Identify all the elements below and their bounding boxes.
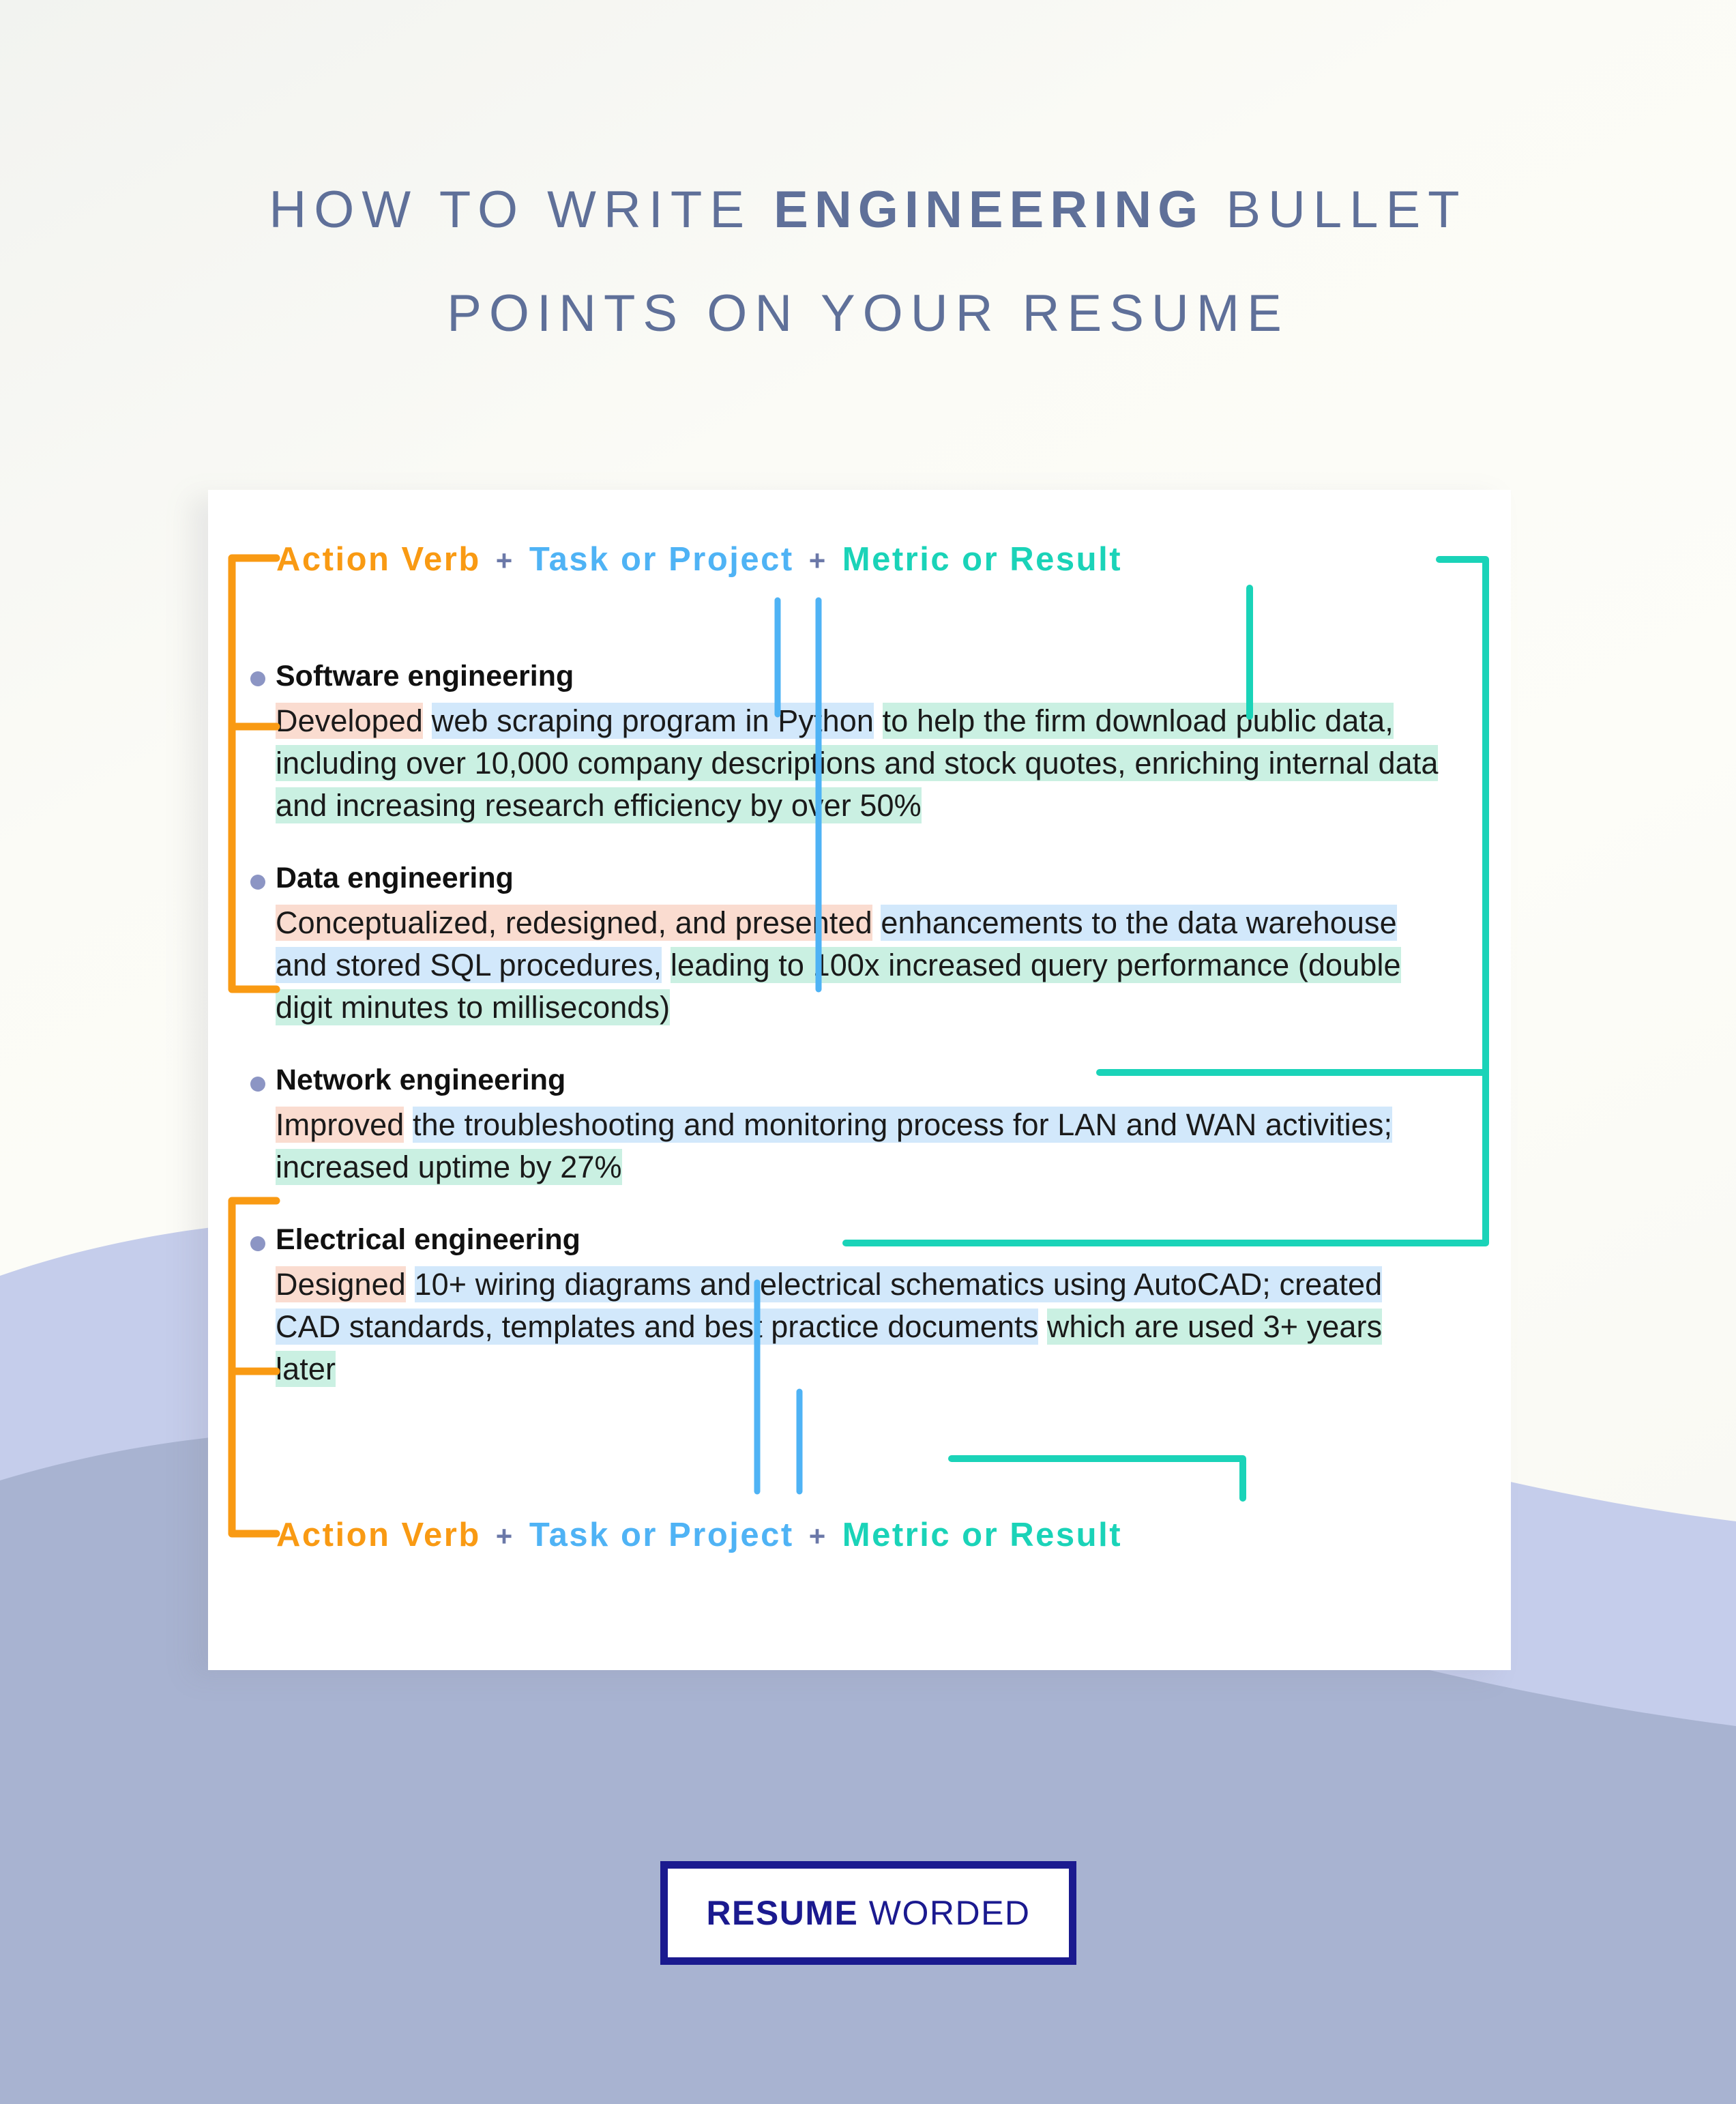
segment-space bbox=[404, 1107, 413, 1143]
logo-word-worded: WORDED bbox=[858, 1894, 1030, 1932]
bullet-group: Software engineering Developed web scrap… bbox=[276, 655, 1449, 827]
legend-top: Action Verb + Task or Project + Metric o… bbox=[276, 540, 1122, 579]
bullet-dot-icon bbox=[250, 875, 265, 890]
title-post: BULLET bbox=[1204, 181, 1467, 239]
group-heading-label: Software engineering bbox=[276, 660, 574, 692]
bullet-group: Network engineering Improved the trouble… bbox=[276, 1059, 1449, 1188]
segment-task-or-project: the troubleshooting and monitoring proce… bbox=[413, 1107, 1392, 1143]
legend-task-or-project-top: Task or Project bbox=[529, 540, 794, 579]
group-heading-electrical: Electrical engineering bbox=[276, 1218, 1449, 1261]
segment-space bbox=[874, 703, 883, 739]
legend-plus-1-top: + bbox=[481, 544, 529, 577]
segment-action-verb: Designed bbox=[276, 1266, 406, 1302]
legend-task-or-project-bottom: Task or Project bbox=[529, 1516, 794, 1554]
legend-plus-2-top: + bbox=[794, 544, 842, 577]
segment-action-verb: Improved bbox=[276, 1107, 404, 1143]
legend-plus-2-bottom: + bbox=[794, 1520, 842, 1553]
title-pre: HOW TO WRITE bbox=[269, 181, 774, 239]
segment-action-verb: Developed bbox=[276, 703, 423, 739]
legend-plus-1-bottom: + bbox=[481, 1520, 529, 1553]
segment-space bbox=[872, 905, 881, 941]
bullet-text-data: Conceptualized, redesigned, and presente… bbox=[276, 902, 1449, 1029]
group-heading-software: Software engineering bbox=[276, 655, 1449, 697]
group-heading-label: Data engineering bbox=[276, 862, 514, 894]
title-line-1: HOW TO WRITE ENGINEERING BULLET bbox=[0, 158, 1736, 262]
group-heading-data: Data engineering bbox=[276, 857, 1449, 899]
logo-word-resume: RESUME bbox=[706, 1894, 858, 1932]
bullet-text-electrical: Designed 10+ wiring diagrams and electri… bbox=[276, 1263, 1449, 1390]
infographic-page: HOW TO WRITE ENGINEERING BULLET POINTS O… bbox=[0, 0, 1736, 2104]
legend-metric-or-result-bottom: Metric or Result bbox=[842, 1516, 1122, 1554]
segment-space bbox=[1038, 1309, 1047, 1345]
legend-action-verb-bottom: Action Verb bbox=[276, 1516, 481, 1554]
bullet-group: Electrical engineering Designed 10+ wiri… bbox=[276, 1218, 1449, 1390]
resume-worded-logo[interactable]: RESUME WORDED bbox=[660, 1861, 1076, 1965]
title-line-2: POINTS ON YOUR RESUME bbox=[0, 262, 1736, 366]
bullet-dot-icon bbox=[250, 1077, 265, 1092]
legend-metric-or-result-top: Metric or Result bbox=[842, 540, 1122, 579]
segment-space bbox=[423, 703, 432, 739]
bullet-list: Software engineering Developed web scrap… bbox=[276, 655, 1449, 1420]
group-heading-label: Electrical engineering bbox=[276, 1223, 580, 1256]
bullet-group: Data engineering Conceptualized, redesig… bbox=[276, 857, 1449, 1029]
segment-space bbox=[662, 947, 671, 983]
segment-action-verb: Conceptualized, redesigned, and presente… bbox=[276, 905, 872, 941]
logo-text: RESUME WORDED bbox=[706, 1893, 1030, 1933]
segment-space bbox=[406, 1266, 415, 1302]
bullet-text-software: Developed web scraping program in Python… bbox=[276, 700, 1449, 827]
group-heading-label: Network engineering bbox=[276, 1064, 565, 1096]
page-title: HOW TO WRITE ENGINEERING BULLET POINTS O… bbox=[0, 158, 1736, 366]
bullet-dot-icon bbox=[250, 671, 265, 686]
segment-task-or-project: web scraping program in Python bbox=[432, 703, 874, 739]
bullet-dot-icon bbox=[250, 1236, 265, 1251]
legend-action-verb-top: Action Verb bbox=[276, 540, 481, 579]
legend-bottom: Action Verb + Task or Project + Metric o… bbox=[276, 1516, 1122, 1554]
title-keyword: ENGINEERING bbox=[774, 181, 1204, 239]
bullet-text-network: Improved the troubleshooting and monitor… bbox=[276, 1104, 1449, 1188]
group-heading-network: Network engineering bbox=[276, 1059, 1449, 1101]
segment-metric-or-result: increased uptime by 27% bbox=[276, 1149, 622, 1185]
